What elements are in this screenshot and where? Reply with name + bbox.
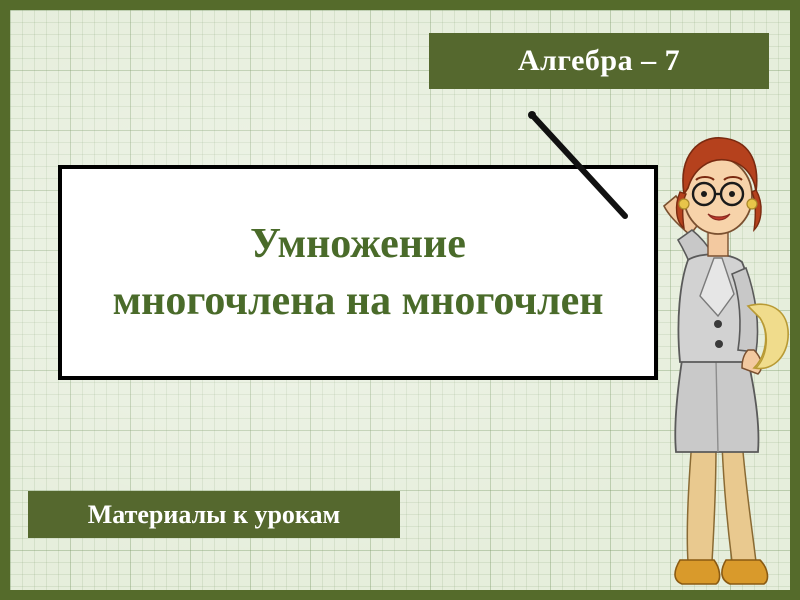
lesson-title-line-1: Умножение <box>113 216 604 273</box>
lesson-title: Умножение многочлена на многочлен <box>113 216 604 329</box>
subject-banner: Алгебра – 7 <box>429 33 769 89</box>
slide-canvas: Алгебра – 7 Умножение многочлена на мног… <box>0 0 800 600</box>
lesson-title-line-2: многочлена на многочлен <box>113 273 604 330</box>
materials-label: Материалы к урокам <box>28 491 400 538</box>
lesson-title-box: Умножение многочлена на многочлен <box>58 165 658 380</box>
teacher-illustration <box>630 110 800 590</box>
materials-label-text: Материалы к урокам <box>88 500 340 530</box>
subject-banner-label: Алгебра – 7 <box>518 44 680 78</box>
